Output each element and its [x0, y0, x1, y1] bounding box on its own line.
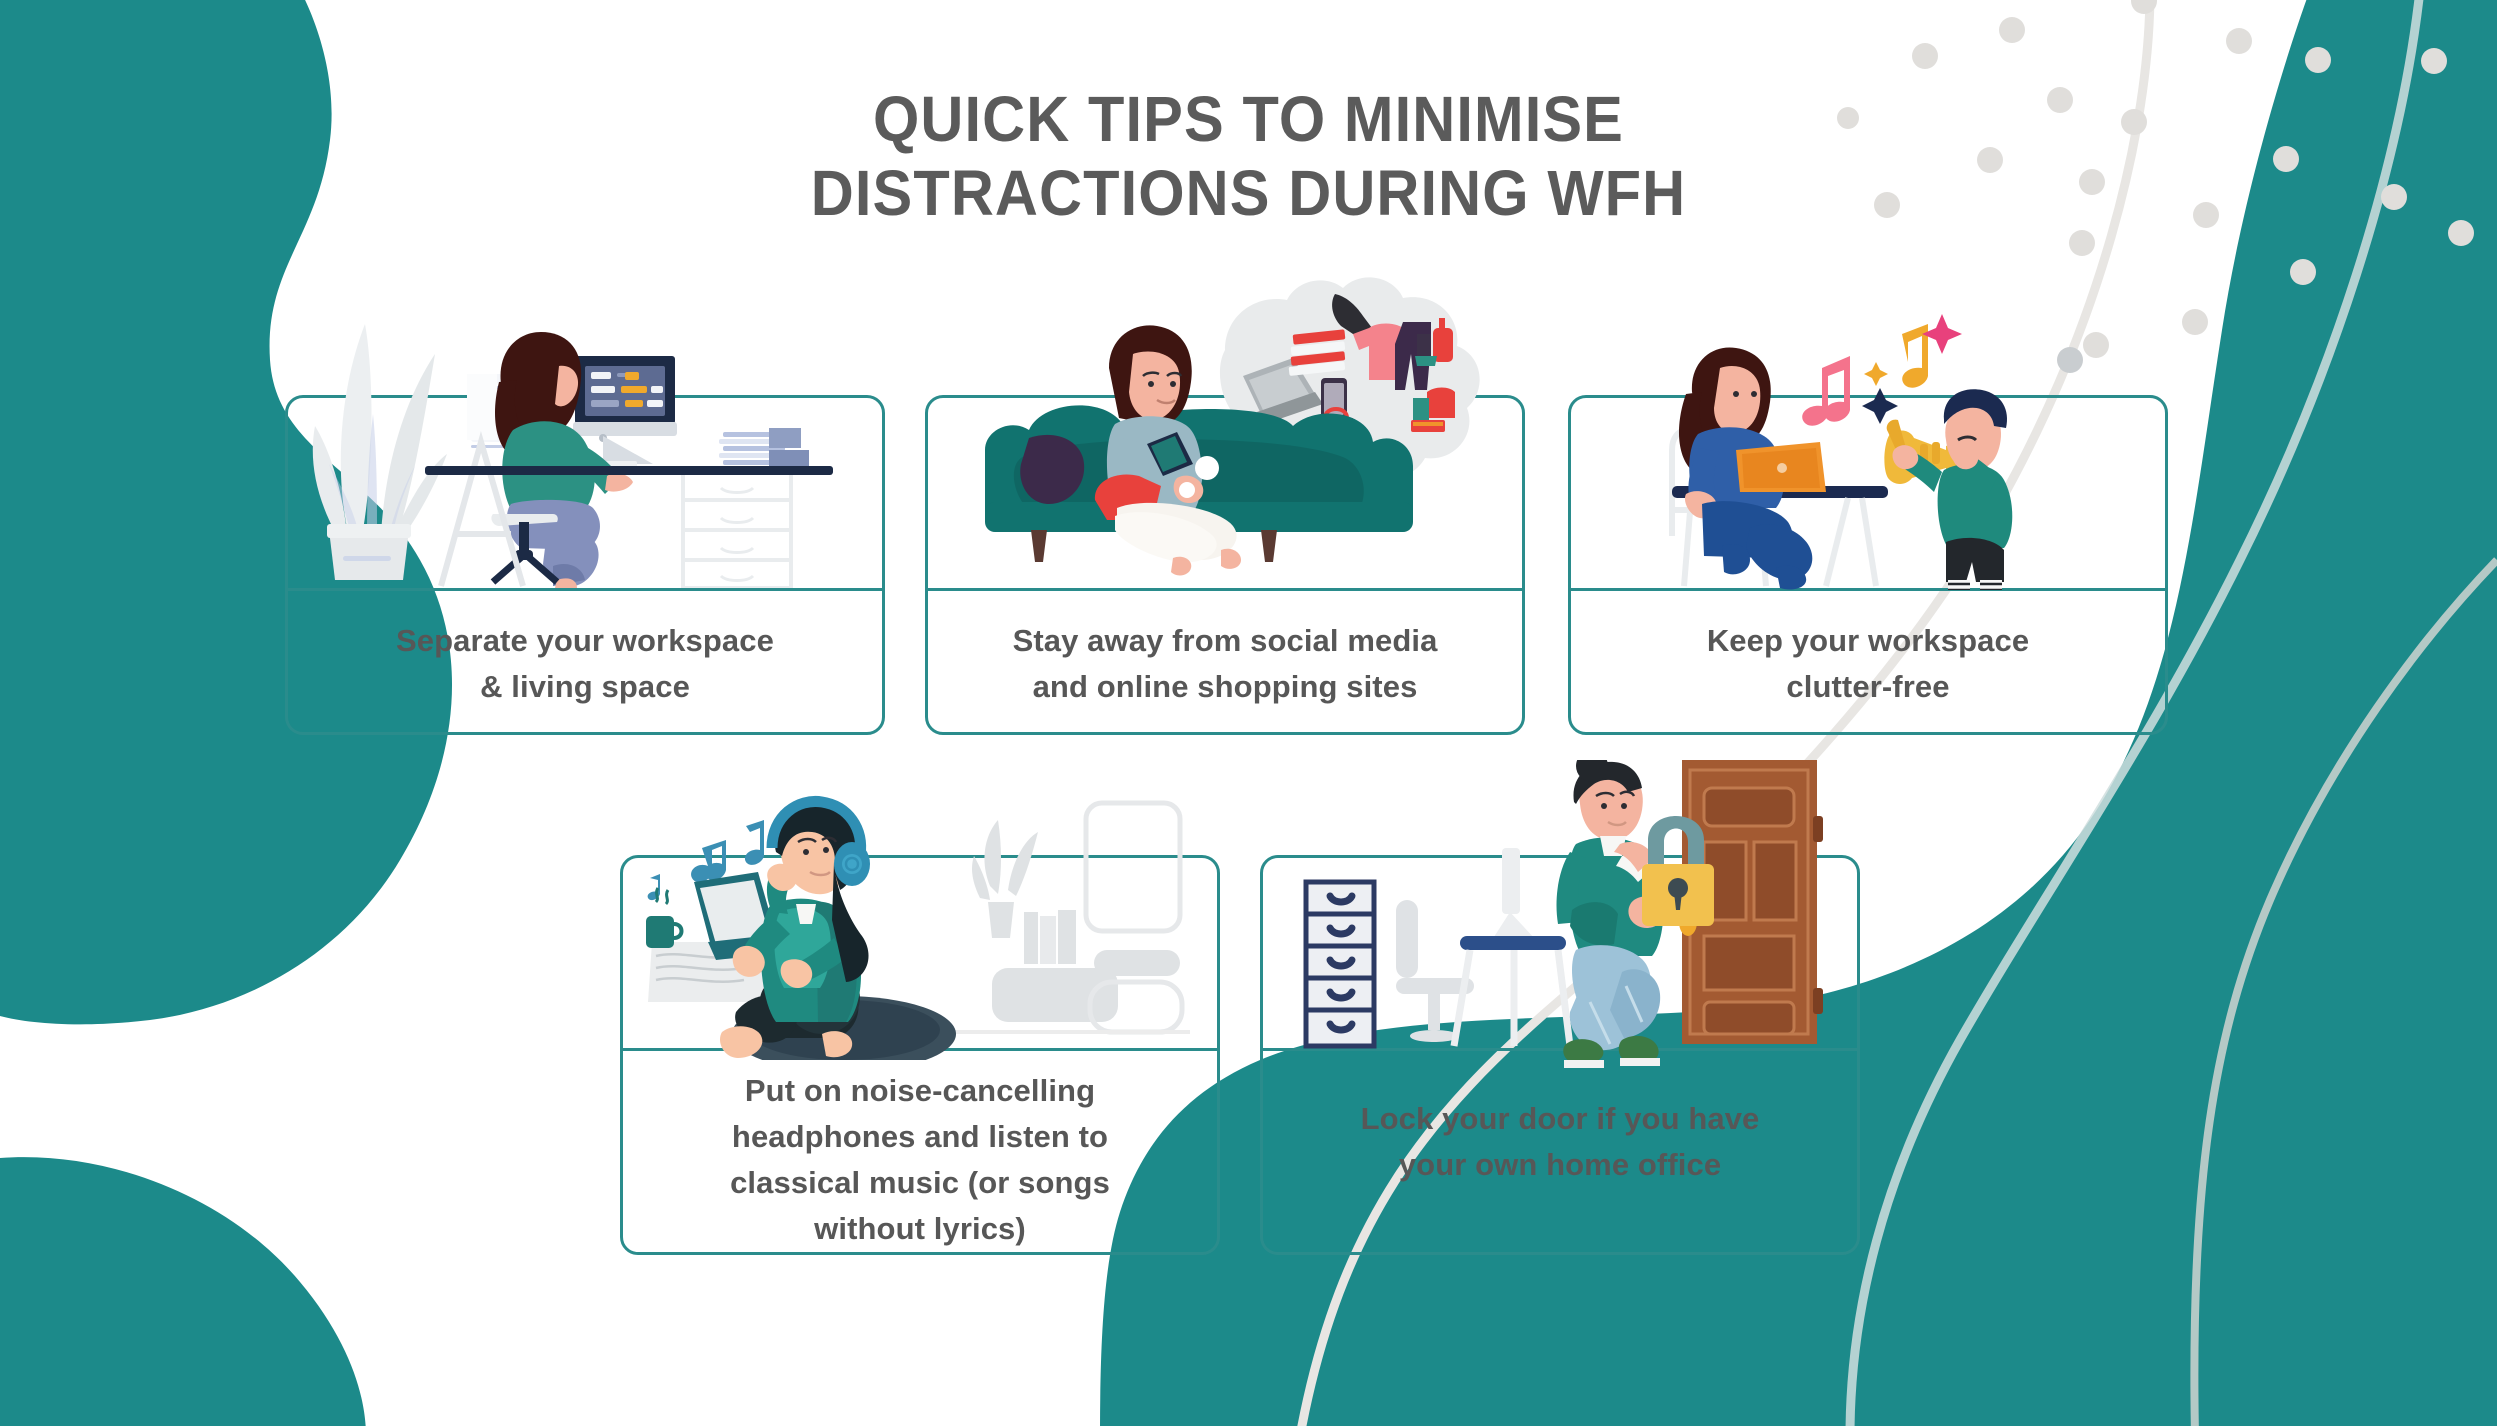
card-divider	[1263, 1048, 1857, 1051]
books-item	[1289, 329, 1346, 376]
card-divider	[288, 588, 882, 591]
card-caption: Separate your workspace & living space	[302, 618, 868, 710]
high-heel-item	[1332, 294, 1377, 354]
card-caption: Stay away from social media and online s…	[942, 618, 1508, 710]
card-divider	[623, 1048, 1217, 1051]
teal-blob-bottom-left	[0, 1157, 366, 1426]
shirt-item	[1353, 324, 1419, 381]
card-clutter-free[interactable]: Keep your workspace clutter-free	[1568, 395, 2168, 735]
page-title: QUICK TIPS TO MINIMISE DISTRACTIONS DURI…	[0, 82, 2497, 230]
card-caption: Lock your door if you have your own home…	[1277, 1096, 1843, 1188]
trousers-item	[1395, 322, 1431, 390]
card-caption: Put on noise-cancelling headphones and l…	[637, 1068, 1203, 1252]
title-line-2: DISTRACTIONS DURING WFH	[87, 156, 2409, 230]
card-headphones[interactable]: Put on noise-cancelling headphones and l…	[620, 855, 1220, 1255]
card-separate-workspace[interactable]: Separate your workspace & living space	[285, 395, 885, 735]
card-social-media[interactable]: Stay away from social media and online s…	[925, 395, 1525, 735]
card-divider	[1571, 588, 2165, 591]
hair-bun	[1576, 760, 1608, 782]
infographic-canvas: QUICK TIPS TO MINIMISE DISTRACTIONS DURI…	[0, 0, 2497, 1426]
title-line-1: QUICK TIPS TO MINIMISE	[87, 82, 2409, 156]
decor-dot	[2057, 347, 2083, 373]
decor-curve-line-3	[2194, 560, 2497, 1426]
card-divider	[928, 588, 1522, 591]
card-caption: Keep your workspace clutter-free	[1585, 618, 2151, 710]
card-lock-door[interactable]: Lock your door if you have your own home…	[1260, 855, 1860, 1255]
lotion-bottle-item	[1415, 318, 1453, 366]
